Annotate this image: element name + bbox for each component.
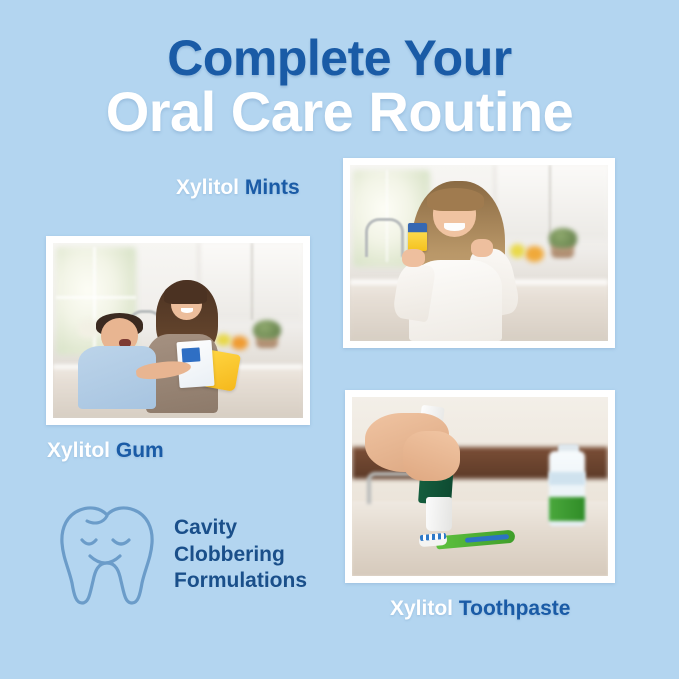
mouthwash-label (549, 497, 585, 520)
girl-right-hand (471, 239, 493, 257)
faucet-icon (365, 218, 404, 257)
title-line-2: Oral Care Routine (0, 85, 679, 140)
title-line-1: Complete Your (0, 34, 679, 83)
cabinet-seam (549, 165, 551, 239)
caption-mints-product: Mints (245, 176, 300, 199)
cavity-badge-text: Cavity Clobbering Formulations (174, 515, 307, 596)
caption-gum-product: Gum (116, 439, 164, 462)
gum-label-accent (181, 347, 199, 362)
photo-toothpaste-scene (352, 397, 608, 576)
girl-left-hand (402, 249, 425, 267)
caption-mints-brand: Xylitol (176, 176, 239, 199)
plant-icon (549, 228, 577, 247)
mother-smile (181, 308, 194, 313)
product-photo-toothpaste (345, 390, 615, 583)
cabinet-seam (251, 243, 253, 320)
photo-gum-scene (53, 243, 303, 418)
mouthwash-band (549, 472, 585, 485)
fruit-orange (231, 336, 249, 350)
product-photo-gum (46, 236, 310, 425)
hand-lower (403, 431, 459, 481)
mints-container (408, 223, 427, 251)
window-mullion-h (56, 296, 136, 299)
mother-fringe (164, 283, 207, 304)
poster-title: Complete Your Oral Care Routine (0, 34, 679, 140)
girl-fringe (427, 188, 484, 211)
caption-toothpaste-brand: Xylitol (390, 597, 453, 620)
caption-gum-brand: Xylitol (47, 439, 110, 462)
fruit-orange (525, 246, 543, 262)
smiling-tooth-icon (57, 503, 157, 607)
photo-mints-scene (350, 165, 608, 341)
toothpaste-tube-neck (426, 497, 452, 531)
plant-icon (253, 320, 281, 339)
caption-toothpaste-product: Toothpaste (459, 597, 571, 620)
caption-gum: Xylitol Gum (47, 439, 164, 463)
caption-toothpaste: Xylitol Toothpaste (390, 597, 570, 621)
product-photo-mints (343, 158, 615, 348)
caption-mints: Xylitol Mints (176, 176, 300, 200)
cavity-badge: Cavity Clobbering Formulations (57, 503, 322, 607)
girl-smile (444, 223, 465, 231)
fruit-lemon (216, 334, 231, 346)
